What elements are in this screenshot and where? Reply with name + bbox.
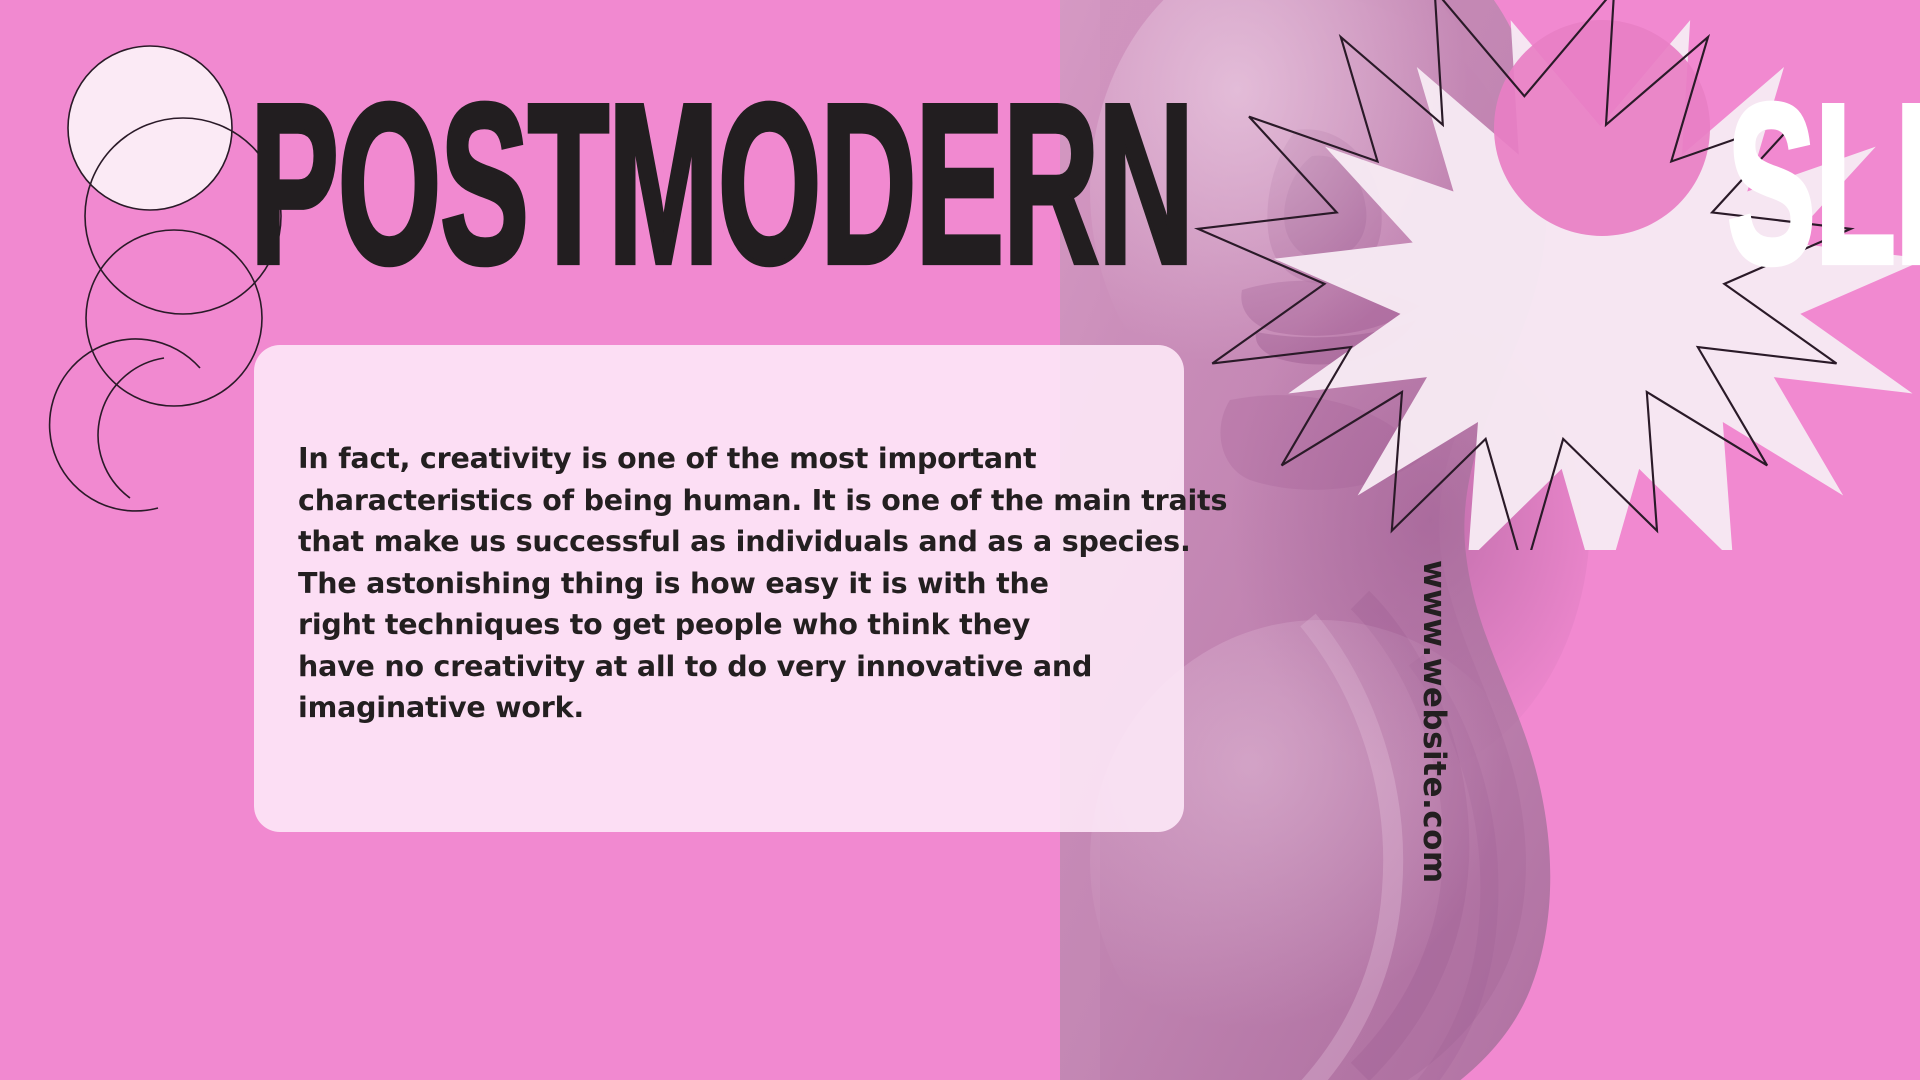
title-word-slides: SLIDES <box>1727 76 1920 293</box>
paragraph-line: The astonishing thing is how easy it is … <box>298 563 1178 605</box>
paragraph-line: that make us successful as individuals a… <box>298 521 1178 563</box>
paragraph-line: characteristics of being human. It is on… <box>298 480 1178 522</box>
content-card: In fact, creativity is one of the most i… <box>254 345 1184 832</box>
paragraph-line: In fact, creativity is one of the most i… <box>298 438 1178 480</box>
website-url[interactable]: www.website.com <box>1416 560 1452 884</box>
paragraph-line: imaginative work. <box>298 687 1178 729</box>
paragraph-line: have no creativity at all to do very inn… <box>298 646 1178 688</box>
card-paragraph: In fact, creativity is one of the most i… <box>298 438 1178 729</box>
title-word-postmodern: POSTMODERN <box>250 76 1193 293</box>
slide-canvas: POSTMODERNSLIDES In fact, creativity is … <box>0 0 1920 1080</box>
page-title: POSTMODERNSLIDES <box>250 82 1920 286</box>
paragraph-line: right techniques to get people who think… <box>298 604 1178 646</box>
